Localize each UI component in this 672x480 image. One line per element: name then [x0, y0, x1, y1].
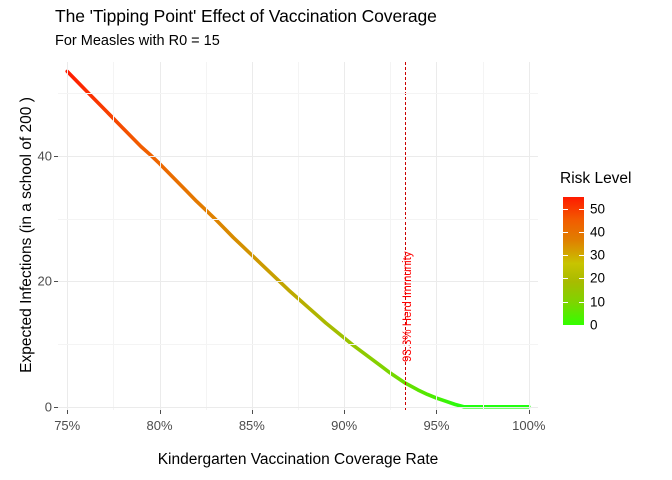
gridline	[160, 62, 161, 410]
chart-subtitle: For Measles with R0 = 15	[55, 33, 220, 49]
legend-tick-mark	[579, 325, 584, 326]
x-tick-label: 100%	[512, 418, 545, 433]
herd-immunity-label: 93.3% Herd Immunity	[402, 251, 414, 362]
gridline	[206, 62, 207, 410]
chart-title: The 'Tipping Point' Effect of Vaccinatio…	[55, 6, 437, 27]
y-tick-label: 40	[38, 149, 52, 164]
x-tick-label: 90%	[331, 418, 357, 433]
gridline	[67, 62, 68, 410]
x-tick-mark	[344, 410, 345, 414]
x-tick-mark	[160, 410, 161, 414]
gridline	[58, 93, 538, 94]
gridline	[298, 62, 299, 410]
legend-tick-mark	[579, 278, 584, 279]
legend-tick-label: 40	[590, 224, 605, 239]
legend-tick-mark	[579, 255, 584, 256]
x-tick-label: 85%	[239, 418, 265, 433]
gridline	[58, 156, 538, 157]
legend-tick-mark	[579, 302, 584, 303]
legend-tick-label: 50	[590, 201, 605, 216]
gridline	[58, 219, 538, 220]
plot-panel: 93.3% Herd Immunity	[58, 62, 538, 410]
legend-tick-label: 20	[590, 271, 605, 286]
y-tick-label: 20	[38, 274, 52, 289]
x-tick-mark	[436, 410, 437, 414]
legend-tick-label: 10	[590, 294, 605, 309]
gridline	[390, 62, 391, 410]
legend: Risk Level 50403020100	[560, 170, 672, 340]
legend-tick-mark	[563, 232, 568, 233]
chart-container: The 'Tipping Point' Effect of Vaccinatio…	[0, 0, 672, 480]
y-axis: 02040	[0, 62, 58, 410]
x-tick-label: 75%	[54, 418, 80, 433]
x-axis-title: Kindergarten Vaccination Coverage Rate	[58, 451, 538, 469]
gridline	[113, 62, 114, 410]
x-tick-label: 95%	[423, 418, 449, 433]
x-tick-mark	[529, 410, 530, 414]
gridline	[252, 62, 253, 410]
legend-tick-mark	[563, 325, 568, 326]
legend-tick-mark	[563, 278, 568, 279]
legend-tick-mark	[579, 232, 584, 233]
legend-tick-mark	[563, 302, 568, 303]
legend-tick-label: 0	[590, 318, 598, 333]
legend-title: Risk Level	[560, 170, 632, 188]
x-tick-label: 80%	[147, 418, 173, 433]
x-tick-mark	[252, 410, 253, 414]
x-axis: 75%80%85%90%95%100%	[58, 410, 538, 440]
gridline	[58, 407, 538, 408]
legend-tick-mark	[563, 255, 568, 256]
legend-colorbar	[563, 197, 584, 325]
legend-tick-mark	[563, 209, 568, 210]
legend-tick-label: 30	[590, 248, 605, 263]
gridline	[58, 344, 538, 345]
gridline	[344, 62, 345, 410]
gridline	[58, 281, 538, 282]
y-tick-label: 0	[45, 399, 52, 414]
legend-tick-mark	[579, 209, 584, 210]
gridline	[529, 62, 530, 410]
gridline	[436, 62, 437, 410]
gridline	[483, 62, 484, 410]
x-tick-mark	[67, 410, 68, 414]
